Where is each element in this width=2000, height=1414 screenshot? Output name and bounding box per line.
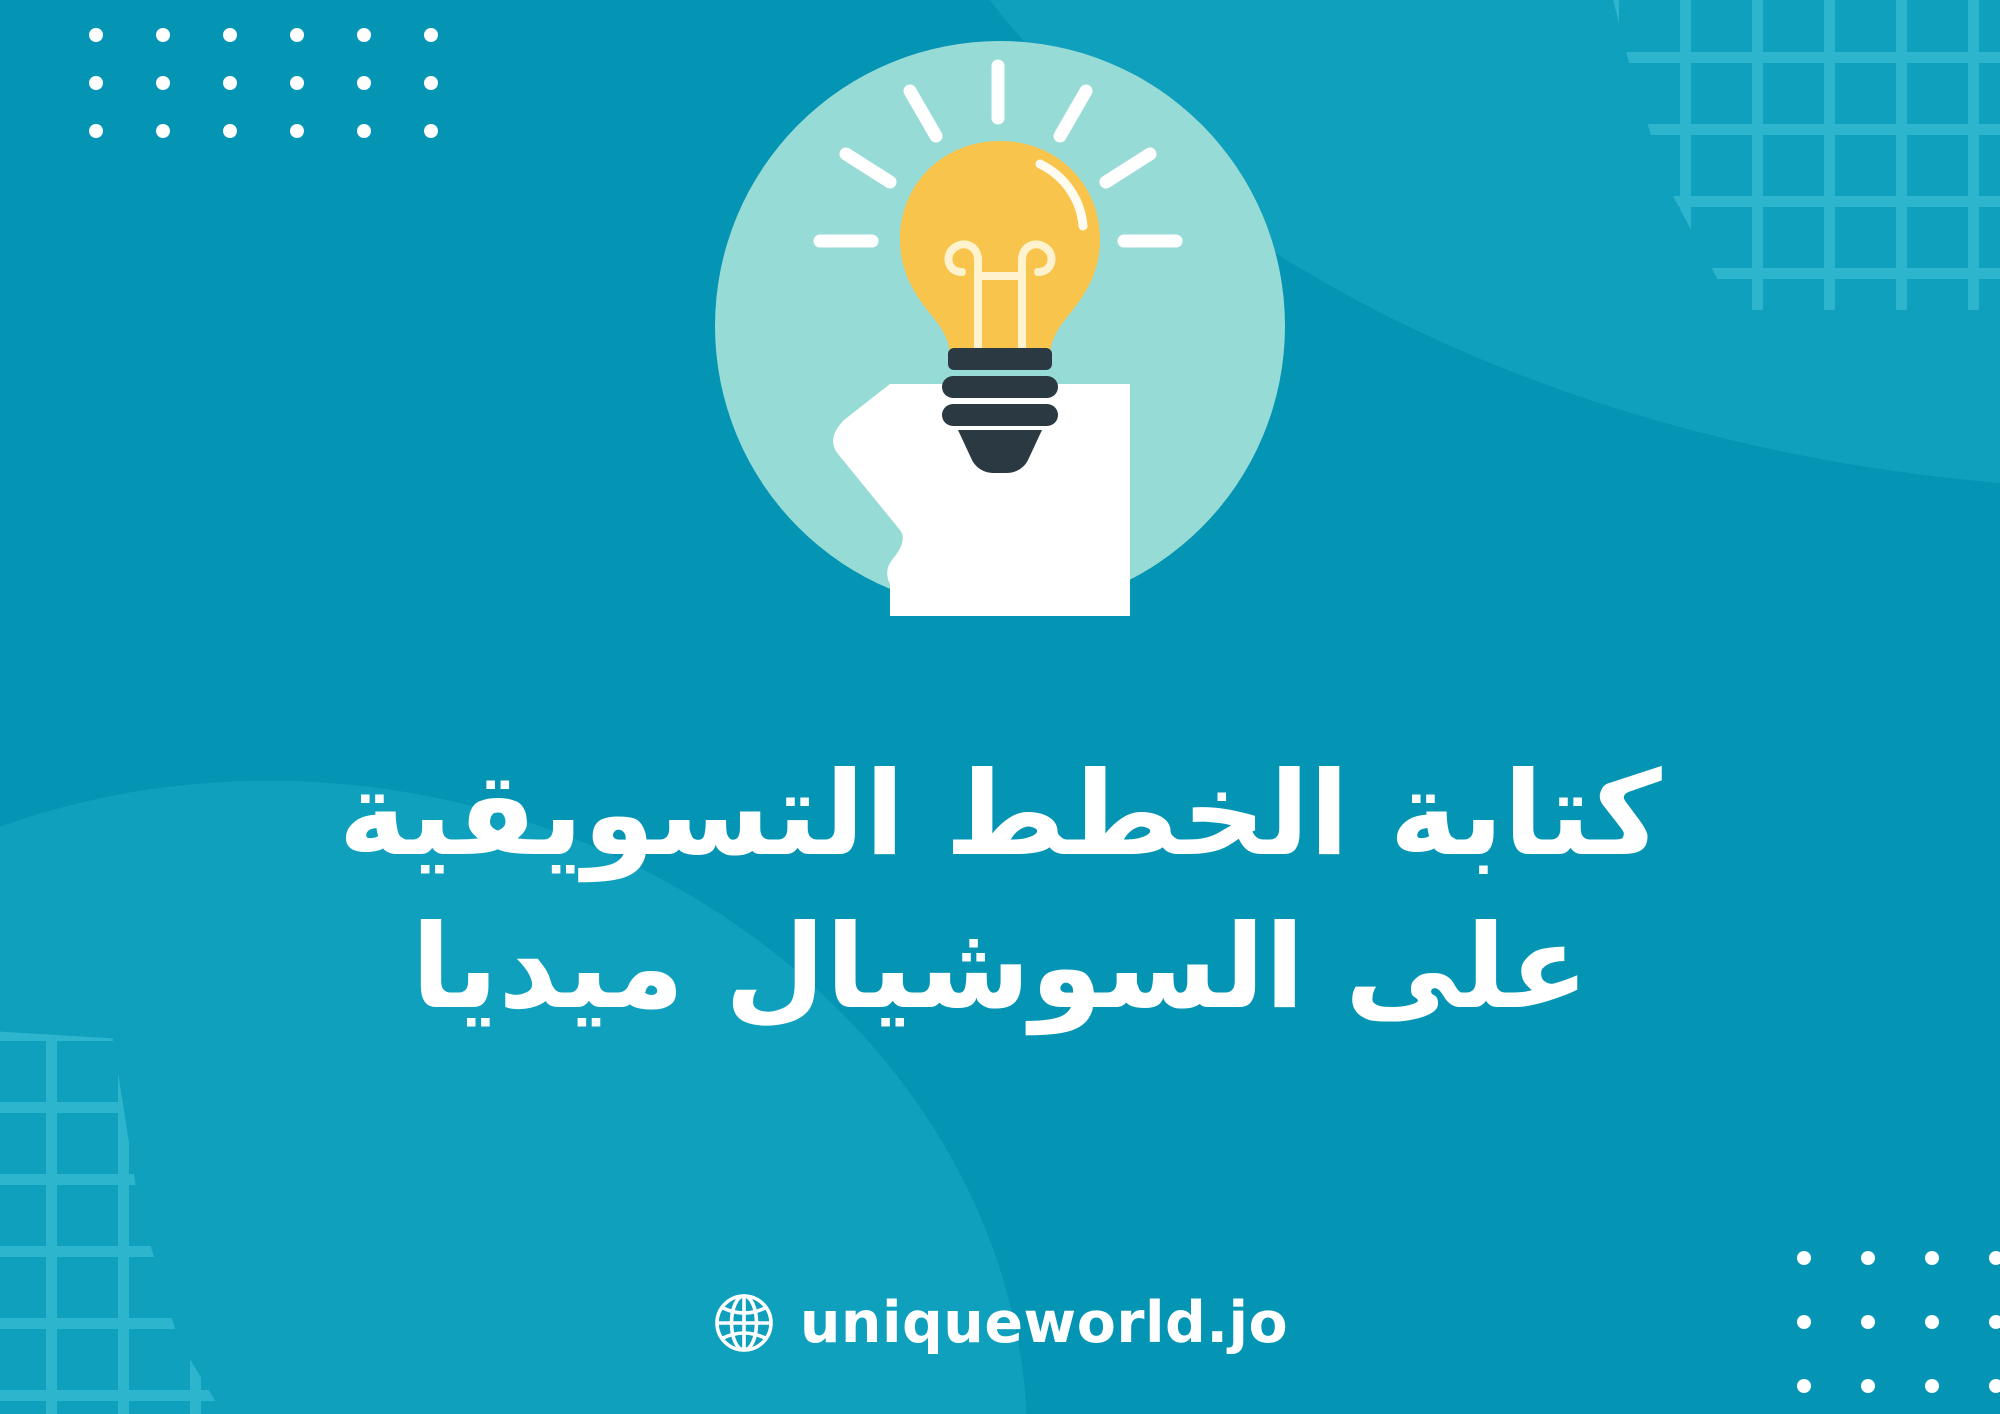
dot bbox=[1989, 1251, 2000, 1265]
dot bbox=[1861, 1379, 1875, 1393]
square-grid-bottom-left bbox=[0, 1030, 304, 1414]
dot bbox=[156, 76, 170, 90]
dot bbox=[1797, 1379, 1811, 1393]
dot bbox=[357, 28, 371, 42]
dot bbox=[1925, 1379, 1939, 1393]
dot bbox=[357, 76, 371, 90]
dot bbox=[1925, 1251, 1939, 1265]
dot bbox=[357, 124, 371, 138]
dot bbox=[1989, 1379, 2000, 1393]
square-grid-top-right bbox=[1608, 0, 2000, 310]
dot bbox=[156, 124, 170, 138]
dot bbox=[89, 124, 103, 138]
head-with-lightbulb-icon bbox=[710, 36, 1290, 616]
dot bbox=[290, 76, 304, 90]
dot bbox=[424, 76, 438, 90]
site-url-text: uniqueworld.jo bbox=[800, 1290, 1288, 1356]
dot bbox=[424, 124, 438, 138]
dot bbox=[156, 28, 170, 42]
dot-grid-top-left bbox=[36, 28, 438, 172]
dot bbox=[1861, 1251, 1875, 1265]
headline-line-2: على السوشيال ميديا bbox=[90, 891, 1910, 1044]
dot bbox=[424, 28, 438, 42]
dot bbox=[223, 28, 237, 42]
dot bbox=[290, 124, 304, 138]
footer-website[interactable]: uniqueworld.jo bbox=[0, 1290, 2000, 1356]
dot bbox=[223, 76, 237, 90]
dot bbox=[223, 124, 237, 138]
poster-canvas: كتابة الخطط التسويقية على السوشيال ميديا… bbox=[0, 0, 2000, 1414]
page-title: كتابة الخطط التسويقية على السوشيال ميديا bbox=[0, 738, 2000, 1044]
globe-icon bbox=[712, 1291, 776, 1355]
dot bbox=[290, 28, 304, 42]
dot bbox=[1797, 1251, 1811, 1265]
dot bbox=[89, 76, 103, 90]
dot bbox=[89, 28, 103, 42]
headline-line-1: كتابة الخطط التسويقية bbox=[90, 738, 1910, 891]
